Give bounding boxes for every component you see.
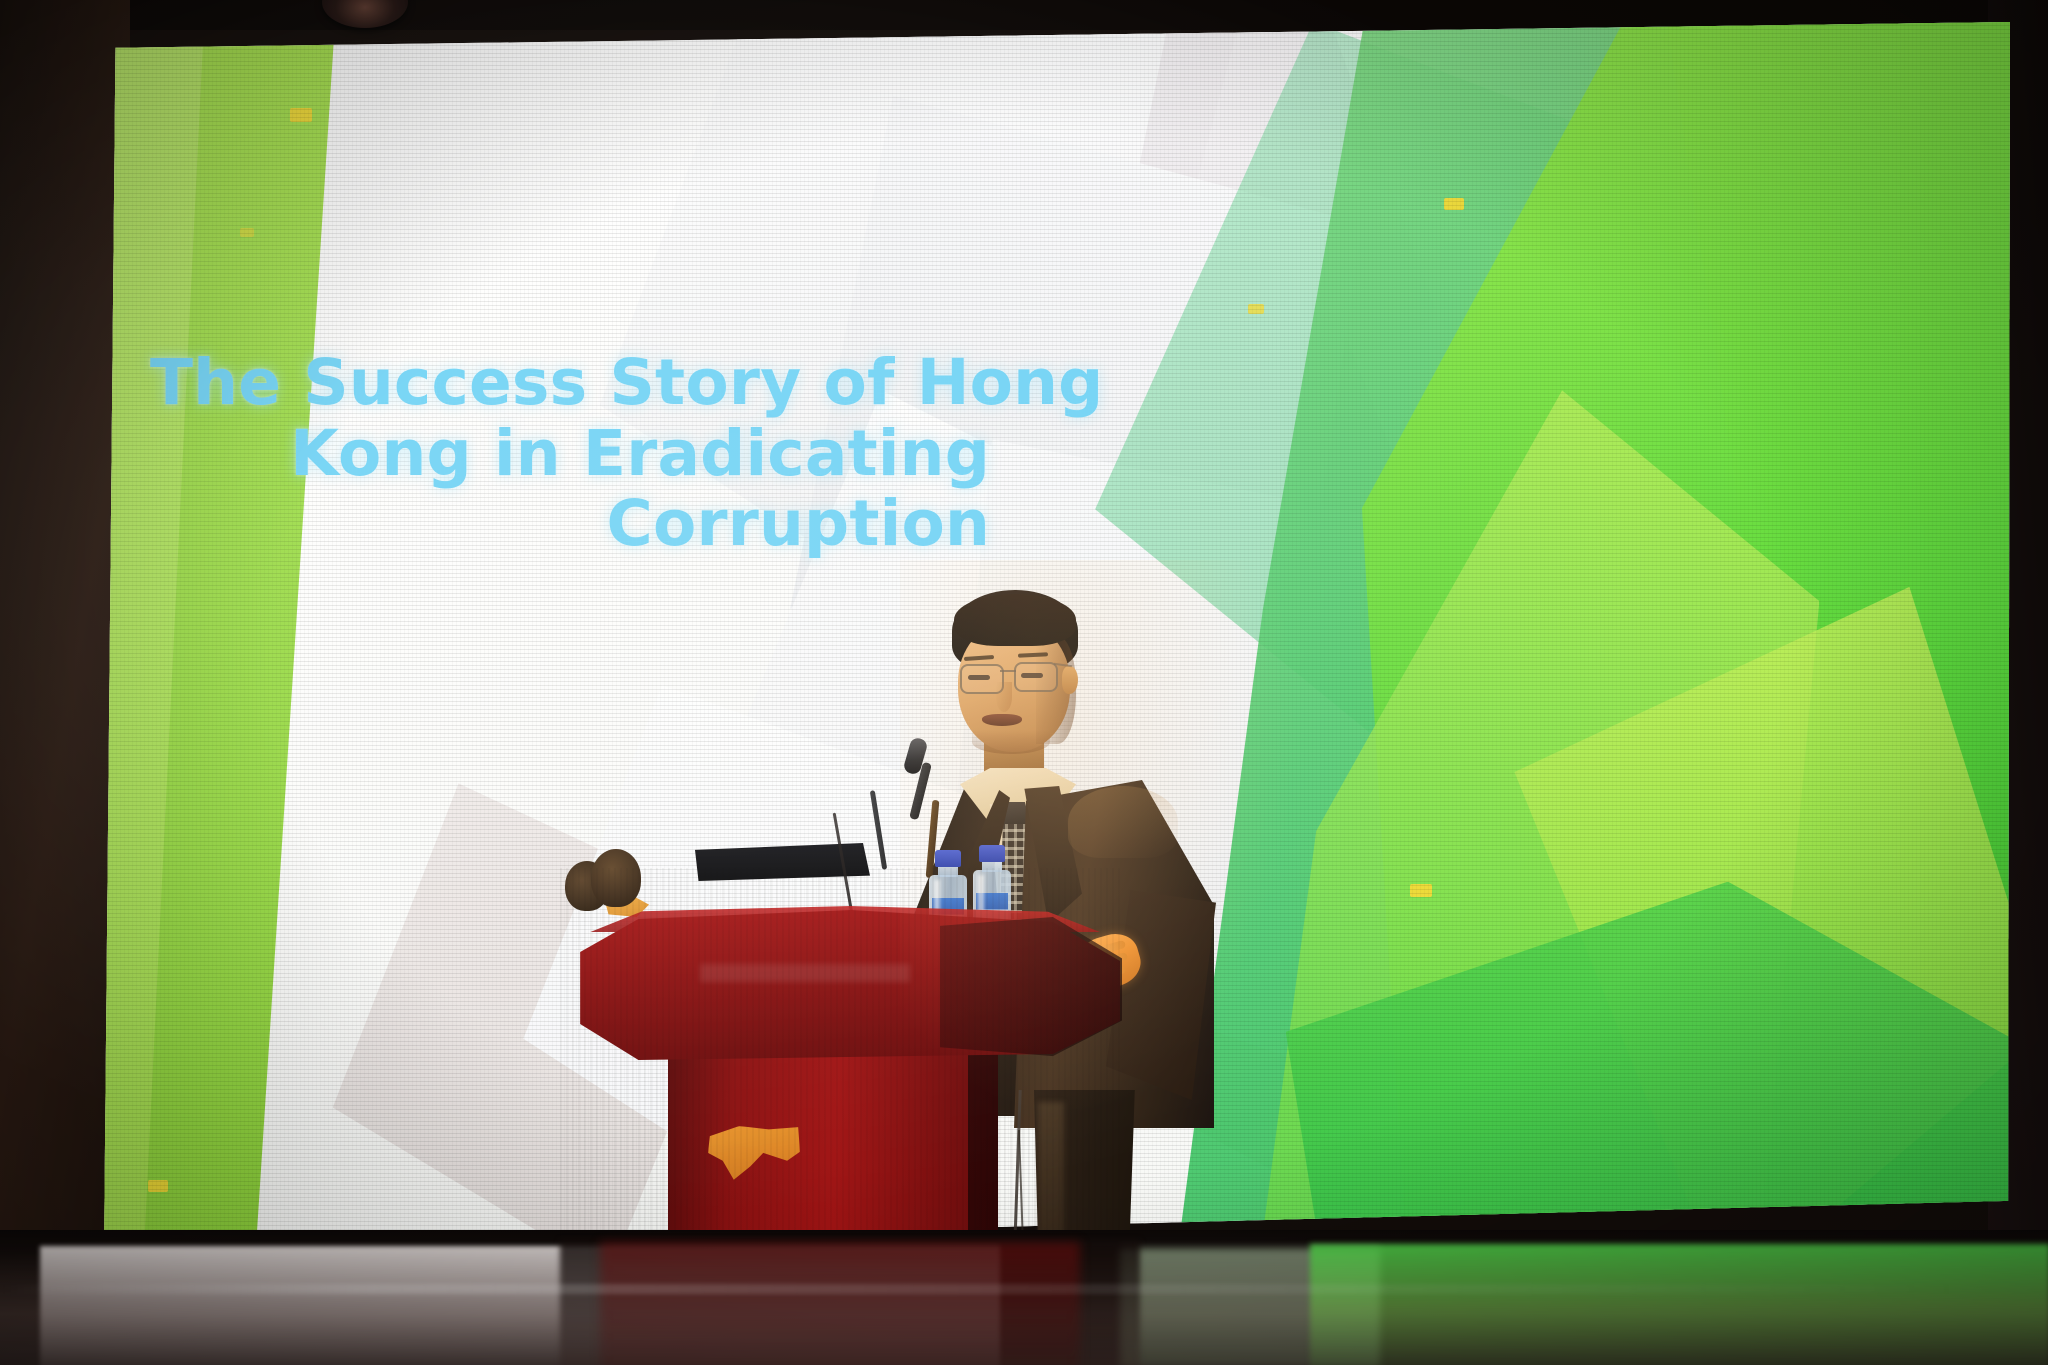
yellow-accent-2 [1444, 198, 1464, 210]
floor-reflection-podium [600, 1242, 1080, 1365]
slide-title-line-2: Kong in Eradicating [150, 419, 990, 490]
podium-scuff [700, 964, 910, 982]
yellow-accent-1 [290, 108, 312, 122]
bottle-cap [935, 850, 961, 867]
ear [1062, 666, 1078, 694]
glasses-bridge [1000, 670, 1016, 672]
stage-photo: The Success Story of Hong Kong in Eradic… [0, 0, 2048, 1365]
yellow-accent-4 [1410, 884, 1432, 897]
floor-reflection-green [1310, 1244, 2048, 1365]
yellow-accent-5 [148, 1180, 168, 1192]
shoulder-highlight [1068, 786, 1178, 858]
bottle-cap [979, 845, 1005, 862]
ceiling-band [0, 0, 2048, 30]
nose [996, 682, 1012, 712]
podium-desktop-shadow [940, 914, 1122, 1062]
slide-title-line-3: Corruption [150, 489, 990, 560]
yellow-accent-3 [1248, 304, 1264, 314]
floor-sheen [0, 1284, 2048, 1294]
slide-title: The Success Story of Hong Kong in Eradic… [150, 348, 990, 560]
chin-shadow [972, 730, 1050, 754]
hair-front [954, 594, 1076, 646]
slide-title-line-1: The Success Story of Hong [150, 348, 990, 419]
yellow-accent-6 [240, 228, 254, 237]
stage-floor [0, 1230, 2048, 1365]
mouth [982, 714, 1022, 726]
glasses-lens-right [1014, 662, 1058, 692]
